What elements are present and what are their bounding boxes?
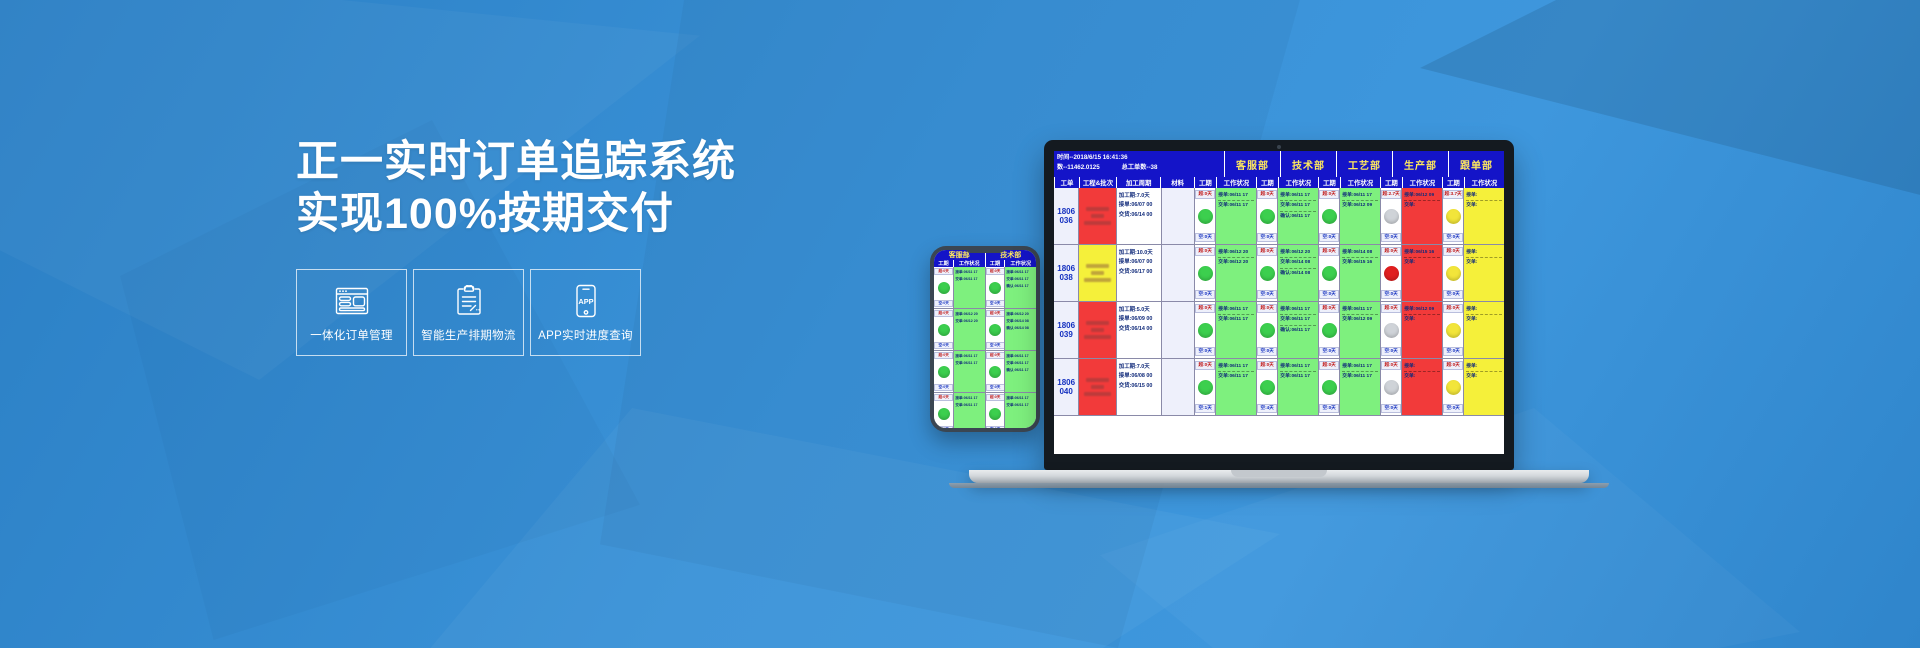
duration-status-cell[interactable]: 超:0天空:0天: [1194, 302, 1215, 358]
phone-over-days-tag: 超:0天: [986, 310, 1005, 317]
status-line: 交单:06/15 16: [1342, 258, 1378, 267]
meta-total: 总工单数--38: [1122, 163, 1158, 173]
status-line: 接单:: [1404, 362, 1440, 372]
duration-status-cell[interactable]: 超:0天空:0天: [1318, 359, 1339, 415]
department-title: 生产部: [1392, 151, 1448, 177]
duration-status-cell[interactable]: 超:2.7天空:0天: [1380, 188, 1401, 244]
hero-banner: 正一实时订单追踪系统 实现100%按期交付: [0, 0, 1920, 648]
duration-status-cell[interactable]: 超:0天空:0天: [1442, 302, 1463, 358]
status-indicator-dot: [1446, 323, 1461, 338]
idle-days-tag: 空:0天: [1257, 233, 1277, 242]
phone-column-header: 工期: [934, 260, 953, 267]
phone-notch: [965, 246, 1005, 253]
cycle-line: 交货:06/14 00: [1119, 325, 1159, 334]
phone-idle-days-tag: 空:0天: [934, 384, 953, 391]
over-days-tag: 超:0天: [1195, 361, 1215, 370]
over-days-tag: 超:0天: [1319, 190, 1339, 199]
phone-idle-days-tag: 空:0天: [934, 426, 953, 428]
duration-status-cell[interactable]: 超:3.7天空:0天: [1442, 188, 1463, 244]
phone-subcolumn-header: 工期工作状况工期工作状况: [934, 260, 1036, 267]
status-line: 接单:06/11 17: [1280, 191, 1316, 201]
work-status-cell[interactable]: 接单:06/11 17交单:06/12 09: [1339, 302, 1380, 358]
status-indicator-dot: [1198, 323, 1213, 338]
laptop-mockup: 时间--2018/6/15 16:41:36 数--11462.0125 总工单…: [1044, 140, 1609, 488]
laptop-lid: 时间--2018/6/15 16:41:36 数--11462.0125 总工单…: [1044, 140, 1514, 470]
duration-status-cell[interactable]: 超:0天空:0天: [1380, 359, 1401, 415]
over-days-tag: 超:0天: [1257, 361, 1277, 370]
idle-days-tag: 空:4天: [1257, 404, 1277, 413]
status-indicator-dot: [1260, 323, 1275, 338]
status-line: 交单:: [1466, 201, 1502, 210]
over-days-tag: 超:0天: [1195, 190, 1215, 199]
work-order-cell: 1806038: [1054, 245, 1078, 301]
over-days-tag: 超:0天: [1381, 247, 1401, 256]
phone-over-days-tag: 超:0天: [986, 394, 1005, 401]
column-header: 工作状况: [1464, 177, 1504, 188]
phone-status-line: 交单:06/12 20: [955, 318, 984, 325]
idle-days-tag: 空:0天: [1381, 233, 1401, 242]
phone-duration-cell[interactable]: 超:0天空:0天: [934, 351, 953, 392]
status-indicator-dot: [1322, 323, 1337, 338]
headline-line-1: 正一实时订单追踪系统: [296, 138, 736, 186]
laptop-screen: 时间--2018/6/15 16:41:36 数--11462.0125 总工单…: [1054, 151, 1504, 454]
over-days-tag: 超:0天: [1443, 304, 1463, 313]
duration-status-cell[interactable]: 超:0天空:4天: [1256, 359, 1277, 415]
column-header: 工作状况: [1278, 177, 1318, 188]
phone-status-line: 接单:06/11 17: [955, 353, 984, 360]
work-order-prefix: 1806: [1057, 378, 1075, 387]
processing-cycle-cell: 加工期:7.0天接单:06/08 00交货:06/15 00: [1116, 359, 1161, 415]
status-line: 交单:: [1404, 315, 1440, 324]
phone-duration-cell[interactable]: 超:0天空:0天: [985, 351, 1004, 392]
cycle-line: 加工期:5.0天: [1119, 306, 1159, 315]
work-order-cell: 1806039: [1054, 302, 1078, 358]
cycle-line: 交货:06/14 00: [1119, 211, 1159, 220]
phone-status-line: 接单:06/11 17: [955, 269, 984, 276]
dashboard-table-body[interactable]: 1806036加工期:7.0天接单:06/07 00交货:06/14 00超:0…: [1054, 188, 1504, 454]
material-cell: [1161, 245, 1194, 301]
idle-days-tag: 空:0天: [1319, 233, 1339, 242]
over-days-tag: 超:0天: [1257, 190, 1277, 199]
status-line: 接单:06/11 17: [1280, 362, 1316, 372]
mobile-app-icon: APP: [573, 282, 599, 320]
work-status-cell[interactable]: 接单:交单:: [1463, 302, 1504, 358]
feature-box-list: 一体化订单管理 智能生产排期物流: [296, 269, 716, 356]
cycle-line: 接单:06/08 00: [1119, 372, 1159, 381]
phone-screen: 客服部技术部 工期工作状况工期工作状况 超:0天空:0天接单:06/11 17交…: [934, 250, 1036, 428]
phone-work-status-cell[interactable]: 接单:06/12 20交单:06/12 20: [953, 309, 985, 350]
work-order-prefix: 1806: [1057, 207, 1075, 216]
duration-status-cell[interactable]: 超:0天空:0天: [1442, 245, 1463, 301]
status-line: 确认:06/11 17: [1280, 326, 1316, 335]
phone-over-days-tag: 超:0天: [986, 268, 1005, 275]
duration-status-cell[interactable]: 超:0天空:0天: [1380, 245, 1401, 301]
idle-days-tag: 空:0天: [1381, 404, 1401, 413]
over-days-tag: 超:0天: [1257, 247, 1277, 256]
over-days-tag: 超:0天: [1319, 247, 1339, 256]
over-days-tag: 超:0天: [1195, 247, 1215, 256]
work-status-cell[interactable]: 接单:06/15 16交单:: [1401, 245, 1442, 301]
status-line: 接单:06/12 20: [1280, 248, 1316, 258]
status-line: 接单:06/11 17: [1342, 362, 1378, 372]
status-indicator-dot: [1384, 323, 1399, 338]
department-title: 跟单部: [1448, 151, 1504, 177]
status-line: 接单:06/12 09: [1404, 305, 1440, 315]
work-order-cell: 1806036: [1054, 188, 1078, 244]
status-line: 交单:: [1404, 201, 1440, 210]
status-line: 确认:06/14 08: [1280, 269, 1316, 278]
idle-days-tag: 空:0天: [1319, 404, 1339, 413]
phone-status-line: 接单:06/11 17: [955, 395, 984, 402]
status-indicator-dot: [1322, 209, 1337, 224]
idle-days-tag: 空:0天: [1381, 290, 1401, 299]
column-header: 工程&批次: [1079, 177, 1116, 188]
status-indicator-dot: [1322, 380, 1337, 395]
laptop-foot: [949, 483, 1609, 488]
meta-count: 数--11462.0125: [1057, 163, 1100, 173]
phone-status-dot: [989, 282, 1001, 294]
over-days-tag: 超:0天: [1319, 361, 1339, 370]
phone-table-body[interactable]: 超:0天空:0天接单:06/11 17交单:06/11 17超:0天空:0天接单…: [934, 267, 1036, 428]
phone-duration-cell[interactable]: 超:0天空:0天: [934, 267, 953, 308]
phone-idle-days-tag: 空:0天: [986, 426, 1005, 428]
phone-over-days-tag: 超:0天: [934, 310, 953, 317]
status-indicator-dot: [1384, 266, 1399, 281]
phone-over-days-tag: 超:0天: [934, 394, 953, 401]
idle-days-tag: 空:1天: [1195, 404, 1215, 413]
phone-status-line: 确认:06/11 17: [1006, 283, 1035, 290]
column-header: 加工周期: [1116, 177, 1160, 188]
phone-duration-cell[interactable]: 超:0天空:0天: [985, 393, 1004, 428]
status-indicator-dot: [1260, 380, 1275, 395]
phone-duration-cell[interactable]: 超:0天空:0天: [985, 267, 1004, 308]
work-order-prefix: 1806: [1057, 321, 1075, 330]
cycle-line: 接单:06/09 00: [1119, 315, 1159, 324]
work-status-cell[interactable]: 接单:06/11 17交单:06/11 17确认:06/11 17: [1277, 302, 1318, 358]
status-line: 交单:06/12 09: [1342, 201, 1378, 210]
column-header: 工期: [1380, 177, 1402, 188]
cycle-line: 接单:06/07 00: [1119, 258, 1159, 267]
feature-box-order-management[interactable]: 一体化订单管理: [296, 269, 407, 356]
work-status-cell[interactable]: 接单:06/12 20交单:06/14 08确认:06/14 08: [1277, 245, 1318, 301]
phone-status-line: 接单:06/12 20: [955, 311, 984, 318]
feature-box-production-scheduling[interactable]: 智能生产排期物流: [413, 269, 524, 356]
status-line: 交单:06/11 17: [1218, 315, 1254, 324]
status-indicator-dot: [1384, 209, 1399, 224]
table-row[interactable]: 1806040加工期:7.0天接单:06/08 00交货:06/15 00超:0…: [1054, 359, 1504, 416]
status-line: 接单:06/11 17: [1342, 191, 1378, 201]
dashboard-header: 时间--2018/6/15 16:41:36 数--11462.0125 总工单…: [1054, 151, 1504, 177]
work-status-cell[interactable]: 接单:06/12 20交单:06/12 20: [1215, 245, 1256, 301]
work-status-cell[interactable]: 接单:交单:: [1463, 188, 1504, 244]
phone-work-status-cell[interactable]: 接单:06/11 17交单:06/11 17: [953, 351, 985, 392]
over-days-tag: 超:3.7天: [1443, 190, 1463, 199]
status-line: 接单:: [1466, 248, 1502, 258]
feature-label: APP实时进度查询: [538, 327, 633, 343]
work-status-cell[interactable]: 接单:06/12 09交单:: [1401, 188, 1442, 244]
table-row[interactable]: 1806039加工期:5.0天接单:06/09 00交货:06/14 00超:0…: [1054, 302, 1504, 359]
phone-over-days-tag: 超:0天: [934, 352, 953, 359]
work-status-cell[interactable]: 接单:06/11 17交单:06/11 17确认:06/11 17: [1277, 188, 1318, 244]
processing-cycle-cell: 加工期:5.0天接单:06/09 00交货:06/14 00: [1116, 302, 1161, 358]
over-days-tag: 超:0天: [1195, 304, 1215, 313]
processing-cycle-cell: 加工期:10.0天接单:06/07 00交货:06/17 00: [1116, 245, 1161, 301]
phone-table-row[interactable]: 超:0天空:0天接单:06/11 17交单:06/11 17超:0天空:0天接单…: [934, 393, 1036, 428]
phone-column-header: 工作状况: [1004, 260, 1036, 267]
status-line: 交单:: [1466, 258, 1502, 267]
status-indicator-dot: [1446, 380, 1461, 395]
idle-days-tag: 空:0天: [1257, 290, 1277, 299]
work-status-cell[interactable]: 接单:06/11 17交单:06/11 17: [1339, 359, 1380, 415]
phone-status-line: 交单:06/11 17: [955, 402, 984, 409]
status-line: 接单:06/12 09: [1404, 191, 1440, 201]
cycle-line: 加工期:10.0天: [1119, 249, 1159, 258]
status-line: 交单:06/11 17: [1218, 201, 1254, 210]
phone-work-status-cell[interactable]: 接单:06/11 17交单:06/11 17: [1004, 393, 1036, 428]
phone-column-header: 工作状况: [953, 260, 985, 267]
status-line: 交单:06/12 09: [1342, 315, 1378, 324]
work-order-prefix: 1806: [1057, 264, 1075, 273]
work-order-suffix: 036: [1059, 216, 1072, 225]
phone-work-status-cell[interactable]: 接单:06/11 17交单:06/11 17: [953, 267, 985, 308]
material-cell: [1161, 359, 1194, 415]
project-batch-cell: [1078, 302, 1115, 358]
work-status-cell[interactable]: 接单:06/11 17交单:06/11 17: [1215, 188, 1256, 244]
project-batch-cell: [1078, 188, 1115, 244]
phone-work-status-cell[interactable]: 接单:06/11 17交单:06/11 17确认:06/11 17: [1004, 351, 1036, 392]
processing-cycle-cell: 加工期:7.0天接单:06/07 00交货:06/14 00: [1116, 188, 1161, 244]
column-header: 材料: [1160, 177, 1194, 188]
project-batch-cell: [1078, 245, 1115, 301]
project-batch-cell: [1078, 359, 1115, 415]
duration-status-cell[interactable]: 超:0天空:0天: [1380, 302, 1401, 358]
status-line: 接单:06/11 17: [1342, 305, 1378, 315]
page-title: 正一实时订单追踪系统 实现100%按期交付: [296, 136, 716, 241]
phone-status-dot: [989, 366, 1001, 378]
over-days-tag: 超:0天: [1257, 304, 1277, 313]
column-header: 工期: [1442, 177, 1464, 188]
phone-idle-days-tag: 空:0天: [934, 300, 953, 307]
duration-status-cell[interactable]: 超:0天空:0天: [1318, 245, 1339, 301]
status-line: 交单:06/14 08: [1280, 258, 1316, 268]
headline-line-2: 实现100%按期交付: [296, 188, 716, 240]
table-row[interactable]: 1806036加工期:7.0天接单:06/07 00交货:06/14 00超:0…: [1054, 188, 1504, 245]
work-status-cell[interactable]: 接单:06/11 17交单:06/11 17: [1215, 302, 1256, 358]
clipboard-schedule-icon: [454, 282, 484, 320]
status-line: 接单:06/14 08: [1342, 248, 1378, 258]
phone-status-line: 交单:06/11 17: [955, 276, 984, 283]
work-status-cell[interactable]: 接单:交单:: [1401, 359, 1442, 415]
cycle-line: 加工期:7.0天: [1119, 363, 1159, 372]
phone-table-row[interactable]: 超:0天空:0天接单:06/12 20交单:06/12 20超:0天空:0天接单…: [934, 309, 1036, 351]
status-indicator-dot: [1322, 266, 1337, 281]
dashboard-meta: 时间--2018/6/15 16:41:36 数--11462.0125 总工单…: [1054, 151, 1224, 177]
status-line: 交单:: [1404, 258, 1440, 267]
status-line: 接单:06/11 17: [1280, 305, 1316, 315]
duration-status-cell[interactable]: 超:0天空:0天: [1256, 302, 1277, 358]
status-line: 交单:06/12 20: [1218, 258, 1254, 267]
duration-status-cell[interactable]: 超:0天空:0天: [1256, 245, 1277, 301]
phone-status-line: 交单:06/11 17: [955, 360, 984, 367]
phone-status-dot: [989, 324, 1001, 336]
idle-days-tag: 空:0天: [1443, 404, 1463, 413]
phone-status-line: 交单:06/11 17: [1006, 276, 1035, 283]
work-status-cell[interactable]: 接单:交单:: [1463, 359, 1504, 415]
phone-idle-days-tag: 空:0天: [986, 384, 1005, 391]
work-order-suffix: 038: [1059, 273, 1072, 282]
phone-status-line: 接单:06/12 20: [1006, 311, 1035, 318]
cycle-line: 交货:06/15 00: [1119, 382, 1159, 391]
status-line: 接单:06/11 17: [1218, 362, 1254, 372]
order-tracking-dashboard: 时间--2018/6/15 16:41:36 数--11462.0125 总工单…: [1054, 151, 1504, 454]
status-indicator-dot: [1260, 266, 1275, 281]
work-status-cell[interactable]: 接单:06/14 08交单:06/15 16: [1339, 245, 1380, 301]
hero-copy: 正一实时订单追踪系统 实现100%按期交付: [296, 136, 716, 356]
status-line: 接单:06/15 16: [1404, 248, 1440, 258]
over-days-tag: 超:0天: [1443, 247, 1463, 256]
svg-text:APP: APP: [578, 297, 593, 306]
status-indicator-dot: [1446, 209, 1461, 224]
work-order-suffix: 040: [1059, 387, 1072, 396]
department-title: 技术部: [1280, 151, 1336, 177]
phone-work-status-cell[interactable]: 接单:06/11 17交单:06/11 17: [953, 393, 985, 428]
phone-duration-cell[interactable]: 超:0天空:0天: [985, 309, 1004, 350]
cycle-line: 加工期:7.0天: [1119, 192, 1159, 201]
idle-days-tag: 空:0天: [1195, 233, 1215, 242]
phone-status-line: 接单:06/11 17: [1006, 353, 1035, 360]
status-line: 接单:06/12 20: [1218, 248, 1254, 258]
column-header: 工作状况: [1216, 177, 1256, 188]
status-line: 确认:06/11 17: [1280, 212, 1316, 221]
status-line: 交单:: [1466, 372, 1502, 381]
duration-status-cell[interactable]: 超:0天空:1天: [1194, 359, 1215, 415]
phone-status-dot: [938, 366, 950, 378]
work-order-suffix: 039: [1059, 330, 1072, 339]
phone-over-days-tag: 超:0天: [934, 268, 953, 275]
phone-dashboard: 客服部技术部 工期工作状况工期工作状况 超:0天空:0天接单:06/11 17交…: [934, 250, 1036, 428]
phone-status-dot: [938, 408, 950, 420]
phone-status-dot: [938, 324, 950, 336]
department-title: 客服部: [1224, 151, 1280, 177]
feature-label: 智能生产排期物流: [421, 327, 515, 343]
work-order-cell: 1806040: [1054, 359, 1078, 415]
phone-status-line: 交单:06/11 17: [1006, 360, 1035, 367]
meta-time: 时间--2018/6/15 16:41:36: [1057, 153, 1221, 163]
webcam-icon: [1277, 145, 1281, 149]
phone-over-days-tag: 超:0天: [986, 352, 1005, 359]
status-line: 接单:: [1466, 362, 1502, 372]
duration-status-cell[interactable]: 超:0天空:0天: [1256, 188, 1277, 244]
column-header: 工作状况: [1402, 177, 1442, 188]
status-line: 交单:06/11 17: [1342, 372, 1378, 381]
phone-status-line: 交单:06/14 08: [1006, 318, 1035, 325]
phone-idle-days-tag: 空:0天: [986, 342, 1005, 349]
idle-days-tag: 空:0天: [1257, 347, 1277, 356]
phone-mockup: 客服部技术部 工期工作状况工期工作状况 超:0天空:0天接单:06/11 17交…: [930, 246, 1040, 432]
idle-days-tag: 空:0天: [1319, 347, 1339, 356]
status-line: 接单:06/11 17: [1218, 305, 1254, 315]
feature-box-app-tracking[interactable]: APP APP实时进度查询: [530, 269, 641, 356]
status-line: 接单:: [1466, 191, 1502, 201]
over-days-tag: 超:0天: [1319, 304, 1339, 313]
duration-status-cell[interactable]: 超:0天空:0天: [1318, 188, 1339, 244]
phone-work-status-cell[interactable]: 接单:06/11 17交单:06/11 17确认:06/11 17: [1004, 267, 1036, 308]
dashboard-layout-icon: [335, 282, 369, 320]
phone-status-line: 交单:06/11 17: [1006, 402, 1035, 409]
status-line: 接单:: [1466, 305, 1502, 315]
phone-work-status-cell[interactable]: 接单:06/12 20交单:06/14 08确认:06/14 08: [1004, 309, 1036, 350]
column-header: 工期: [1256, 177, 1278, 188]
table-row[interactable]: 1806038加工期:10.0天接单:06/07 00交货:06/17 00超:…: [1054, 245, 1504, 302]
column-header-row: 工单工程&批次加工周期材料工期工作状况工期工作状况工期工作状况工期工作状况工期工…: [1054, 177, 1504, 188]
phone-duration-cell[interactable]: 超:0天空:0天: [934, 393, 953, 428]
phone-table-row[interactable]: 超:0天空:0天接单:06/11 17交单:06/11 17超:0天空:0天接单…: [934, 267, 1036, 309]
phone-status-line: 确认:06/14 08: [1006, 325, 1035, 332]
status-indicator-dot: [1198, 209, 1213, 224]
status-indicator-dot: [1260, 209, 1275, 224]
feature-label: 一体化订单管理: [310, 327, 393, 343]
idle-days-tag: 空:0天: [1195, 347, 1215, 356]
phone-status-line: 接单:06/11 17: [1006, 395, 1035, 402]
phone-status-line: 接单:06/11 17: [1006, 269, 1035, 276]
status-line: 交单:06/11 17: [1280, 372, 1316, 381]
over-days-tag: 超:0天: [1381, 361, 1401, 370]
material-cell: [1161, 302, 1194, 358]
over-days-tag: 超:0天: [1381, 304, 1401, 313]
laptop-base-notch: [1231, 470, 1327, 477]
laptop-base: [969, 470, 1589, 483]
duration-status-cell[interactable]: 超:0天空:0天: [1194, 245, 1215, 301]
work-status-cell[interactable]: 接单:06/12 09交单:: [1401, 302, 1442, 358]
status-line: 交单:06/11 17: [1280, 315, 1316, 325]
column-header: 工单: [1054, 177, 1079, 188]
status-line: 交单:: [1404, 372, 1440, 381]
status-indicator-dot: [1198, 380, 1213, 395]
over-days-tag: 超:2.7天: [1381, 190, 1401, 199]
work-status-cell[interactable]: 接单:06/11 17交单:06/11 17: [1277, 359, 1318, 415]
status-line: 交单:06/11 17: [1218, 372, 1254, 381]
duration-status-cell[interactable]: 超:0天空:0天: [1318, 302, 1339, 358]
status-line: 交单:06/11 17: [1280, 201, 1316, 211]
duration-status-cell[interactable]: 超:0天空:0天: [1194, 188, 1215, 244]
column-header: 工期: [1318, 177, 1340, 188]
phone-table-row[interactable]: 超:0天空:0天接单:06/11 17交单:06/11 17超:0天空:0天接单…: [934, 351, 1036, 393]
column-header: 工作状况: [1340, 177, 1380, 188]
column-header: 工期: [1194, 177, 1216, 188]
idle-days-tag: 空:0天: [1443, 347, 1463, 356]
work-status-cell[interactable]: 接单:06/11 17交单:06/11 17: [1215, 359, 1256, 415]
duration-status-cell[interactable]: 超:0天空:0天: [1442, 359, 1463, 415]
material-cell: [1161, 188, 1194, 244]
phone-status-dot: [938, 282, 950, 294]
idle-days-tag: 空:0天: [1319, 290, 1339, 299]
work-status-cell[interactable]: 接单:06/11 17交单:06/12 09: [1339, 188, 1380, 244]
idle-days-tag: 空:0天: [1381, 347, 1401, 356]
status-indicator-dot: [1198, 266, 1213, 281]
phone-status-line: 确认:06/11 17: [1006, 367, 1035, 374]
status-indicator-dot: [1384, 380, 1399, 395]
work-status-cell[interactable]: 接单:交单:: [1463, 245, 1504, 301]
status-indicator-dot: [1446, 266, 1461, 281]
department-title: 工艺部: [1336, 151, 1392, 177]
idle-days-tag: 空:0天: [1195, 290, 1215, 299]
over-days-tag: 超:0天: [1443, 361, 1463, 370]
idle-days-tag: 空:0天: [1443, 233, 1463, 242]
phone-status-dot: [989, 408, 1001, 420]
phone-duration-cell[interactable]: 超:0天空:0天: [934, 309, 953, 350]
phone-idle-days-tag: 空:0天: [986, 300, 1005, 307]
phone-idle-days-tag: 空:0天: [934, 342, 953, 349]
